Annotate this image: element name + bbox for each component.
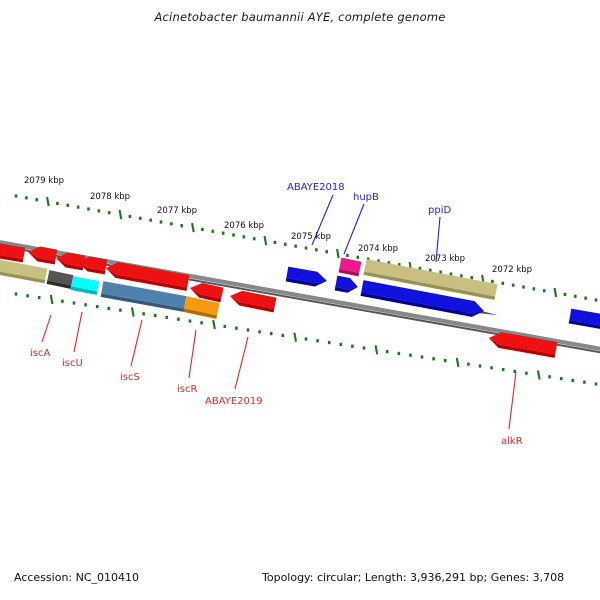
feature-label-iscU[interactable]: iscU (62, 358, 83, 369)
ruler-tick-label: 2076 kbp (224, 221, 264, 231)
ruler-tick-label: 2078 kbp (90, 192, 130, 202)
feature-label-iscA[interactable]: iscA (30, 348, 50, 359)
feature-label-iscR[interactable]: iscR (177, 384, 197, 395)
feature-label-ABAYE2019[interactable]: ABAYE2019 (205, 396, 263, 407)
genome-stats-status: Topology: circular; Length: 3,936,291 bp… (262, 571, 564, 584)
genome-map-viewer[interactable]: Acinetobacter baumannii AYE, complete ge… (0, 0, 600, 600)
leader-line-ABAYE2019 (235, 337, 248, 389)
gene-blue-4[interactable] (569, 309, 600, 330)
leader-line-iscS (131, 320, 142, 366)
feature-label-hupB[interactable]: hupB (353, 192, 379, 203)
feature-label-ppiD[interactable]: ppiD (428, 205, 451, 216)
ruler-tick-label: 2073 kbp (425, 254, 465, 264)
ruler-tick-label: 2075 kbp (291, 232, 331, 242)
gene-gray-1[interactable] (47, 270, 74, 289)
accession-status: Accession: NC_010410 (14, 571, 139, 584)
ruler-tick-label: 2072 kbp (492, 265, 532, 275)
genome-map-canvas[interactable] (0, 0, 600, 600)
feature-label-alkR[interactable]: alkR (501, 436, 523, 447)
gene-magenta-1[interactable] (339, 258, 362, 277)
leader-line-iscR (189, 330, 196, 378)
leader-line-alkR (509, 372, 516, 429)
leader-line-iscA (42, 315, 51, 342)
leader-line-iscU (74, 312, 82, 352)
feature-body (335, 276, 358, 290)
gene-cyan-1[interactable] (71, 276, 100, 295)
ruler-tick-label: 2079 kbp (24, 176, 64, 186)
ruler-tick-label: 2074 kbp (358, 244, 398, 254)
feature-label-ABAYE2018[interactable]: ABAYE2018 (287, 182, 345, 193)
gene-blue-1[interactable] (286, 267, 327, 287)
feature-label-iscS[interactable]: iscS (120, 372, 140, 383)
ruler-tick-label: 2077 kbp (157, 206, 197, 216)
gene-blue-2[interactable] (335, 276, 358, 293)
